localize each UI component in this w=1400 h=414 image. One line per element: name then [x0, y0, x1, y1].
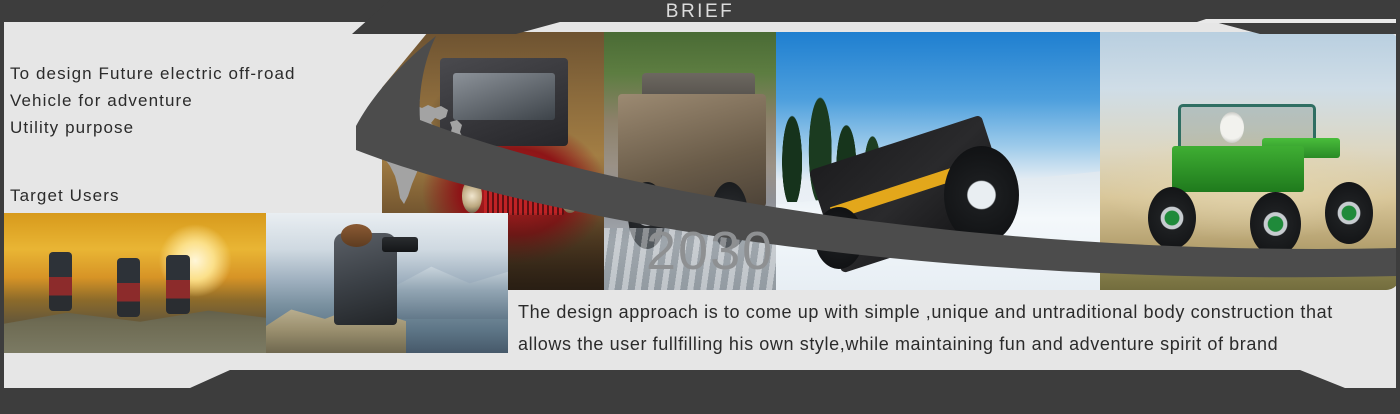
- brief-line-2: Vehicle for adventure: [10, 87, 296, 114]
- photo-hikers-sunset: [4, 213, 266, 353]
- photo-photographer-mountain: [266, 213, 508, 353]
- india-map-silhouette-icon: [362, 92, 482, 210]
- top-photo-strip: [352, 32, 1400, 290]
- year-heading: 2030: [646, 220, 774, 282]
- photo-green-race-buggy: [1100, 32, 1400, 290]
- frame-right-edge: [1396, 0, 1400, 414]
- brief-line-3: Utility purpose: [10, 114, 296, 141]
- brief-statement: To design Future electric off-road Vehic…: [10, 60, 296, 141]
- target-users-label: Target Users: [10, 186, 120, 206]
- frame-left-edge: [0, 0, 4, 414]
- design-approach-paragraph: The design approach is to come up with s…: [518, 296, 1348, 360]
- brief-line-1: To design Future electric off-road: [10, 60, 296, 87]
- page-title: BRIEF: [0, 1, 1400, 23]
- slide-canvas: BRIEF To design Future electric off-road…: [0, 0, 1400, 414]
- bottom-photo-strip: [4, 213, 508, 353]
- photo-snow-rock-crawler: [776, 32, 1100, 290]
